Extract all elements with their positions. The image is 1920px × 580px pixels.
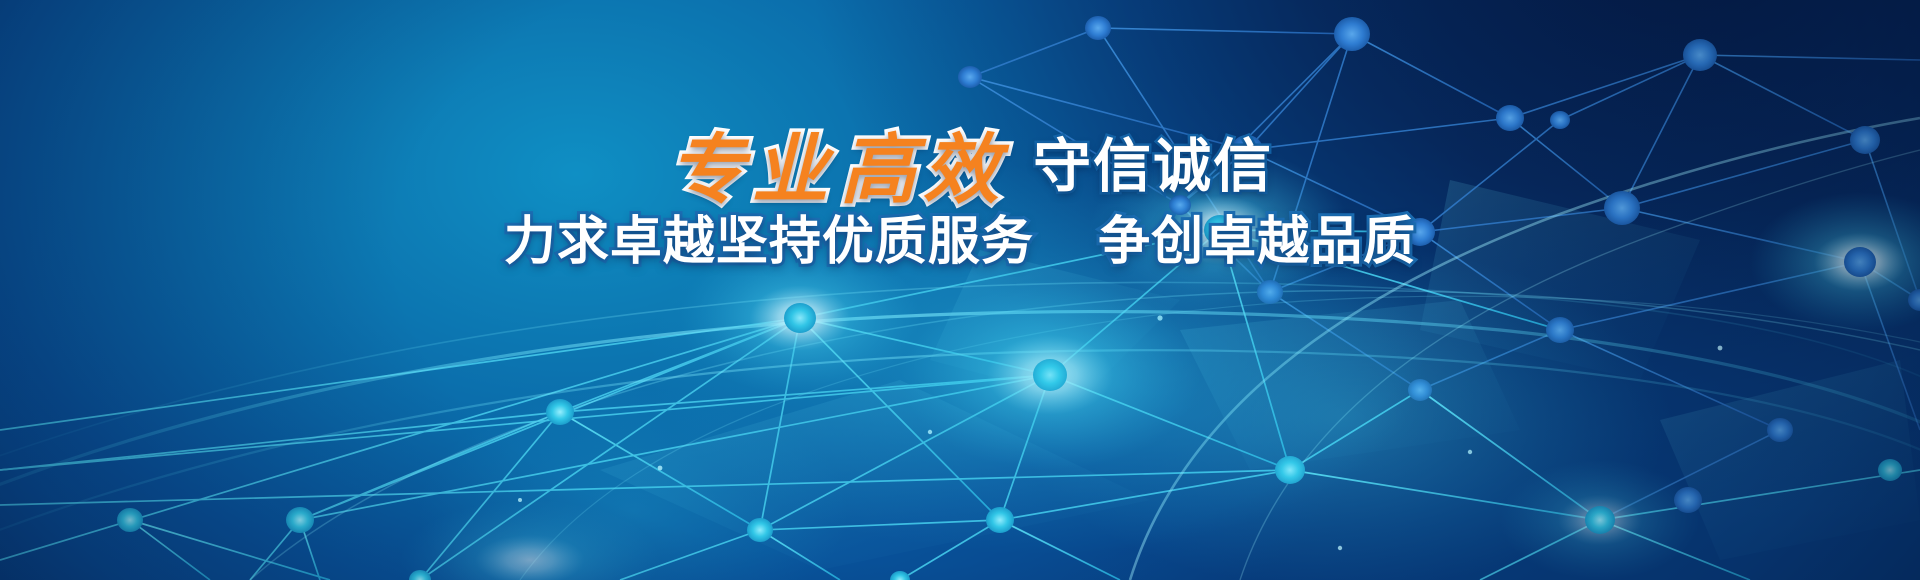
promo-banner: 专业 高效 守信诚信 力求卓越坚持优质服务 争创卓越品质 xyxy=(0,0,1920,580)
background-vignette xyxy=(0,0,1920,580)
